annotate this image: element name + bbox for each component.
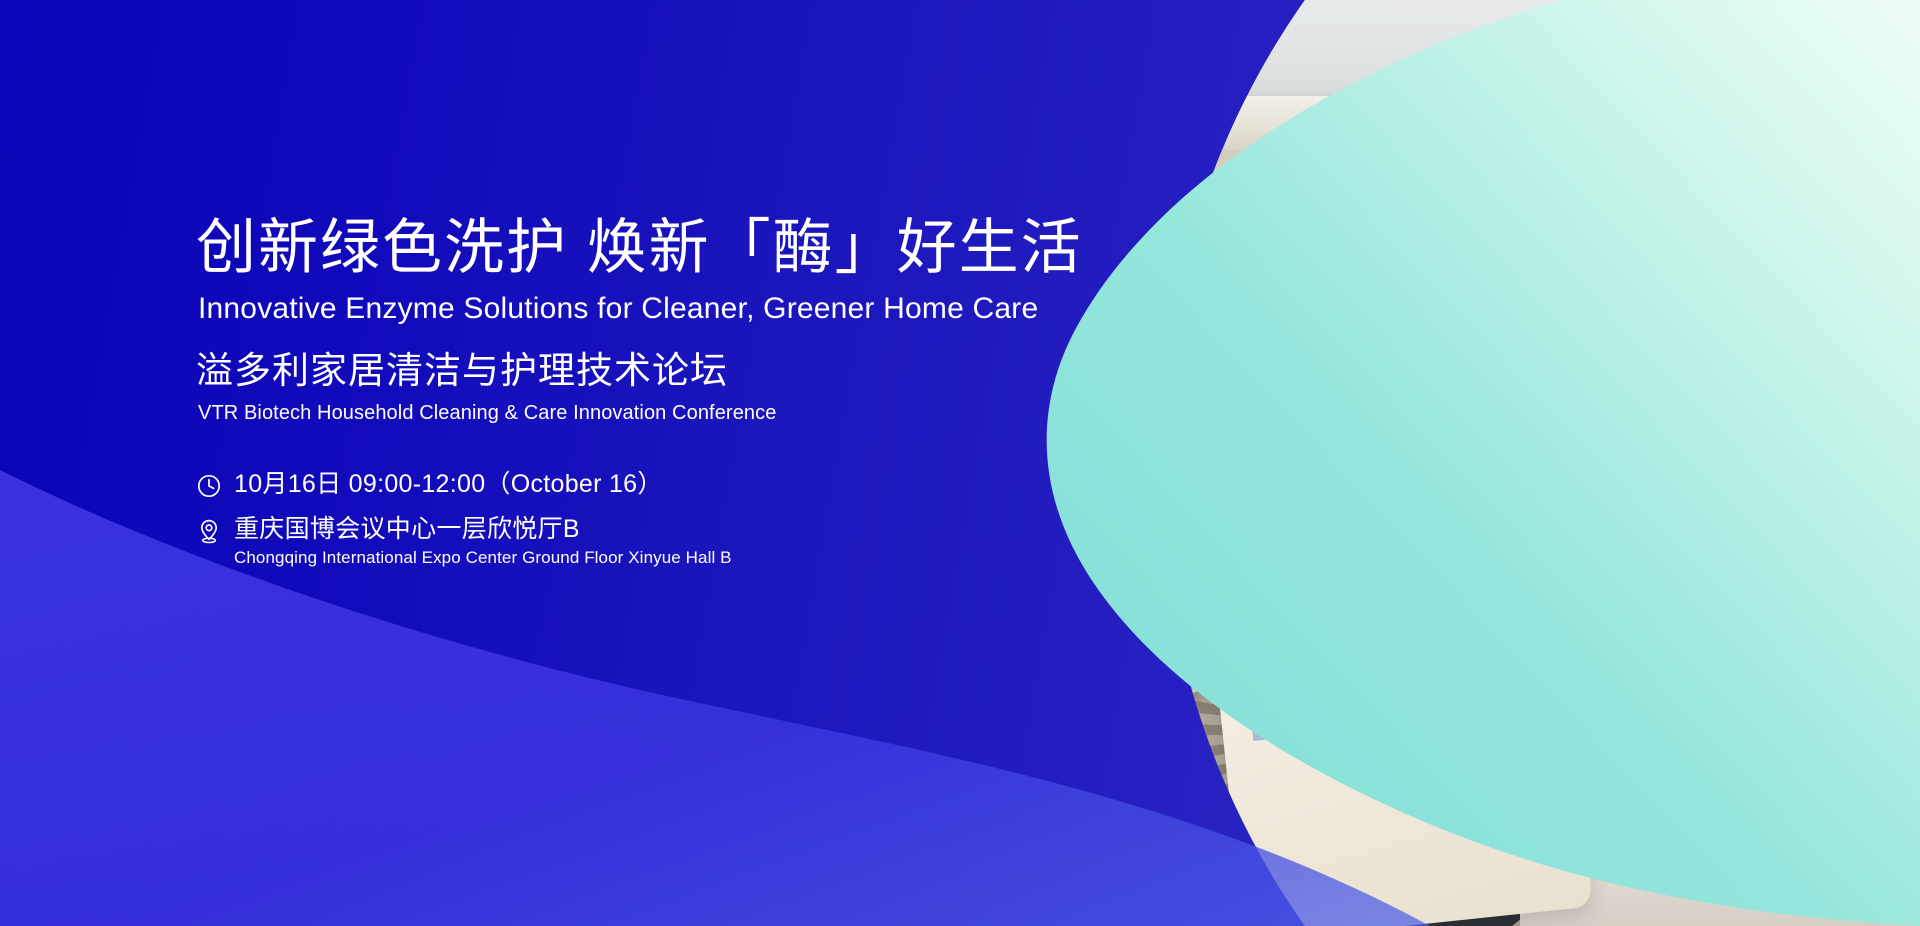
headline-chinese: 创新绿色洗护 焕新「酶」好生活 <box>196 218 1083 278</box>
subtitle-english: VTR Biotech Household Cleaning & Care In… <box>198 403 776 423</box>
banner-content: 创新绿色洗护 焕新「酶」好生活 Innovative Enzyme Soluti… <box>196 0 1016 926</box>
event-datetime-text: 10月16日 09:00-12:00（October 16） <box>234 470 663 498</box>
event-datetime-row: 10月16日 09:00-12:00（October 16） <box>196 470 996 499</box>
headline-english: Innovative Enzyme Solutions for Cleaner,… <box>198 294 1038 324</box>
clock-icon <box>196 473 222 499</box>
subtitle-chinese: 溢多利家居清洁与护理技术论坛 <box>196 352 728 389</box>
hero-photo <box>1000 0 1920 926</box>
conference-banner: 创新绿色洗护 焕新「酶」好生活 Innovative Enzyme Soluti… <box>0 0 1920 926</box>
washing-machine-detergent-drawer <box>1092 238 1392 286</box>
event-venue-text-cn: 重庆国博会议中心一层欣悦厅B <box>234 515 732 543</box>
event-venue-text-en: Chongqing International Expo Center Grou… <box>234 545 732 571</box>
location-pin-icon <box>196 518 222 544</box>
event-details: 10月16日 09:00-12:00（October 16） 重庆国博会议中心一… <box>196 470 996 587</box>
hero-photo-scene <box>1000 0 1920 926</box>
event-venue-row: 重庆国博会议中心一层欣悦厅B Chongqing International E… <box>196 515 996 571</box>
